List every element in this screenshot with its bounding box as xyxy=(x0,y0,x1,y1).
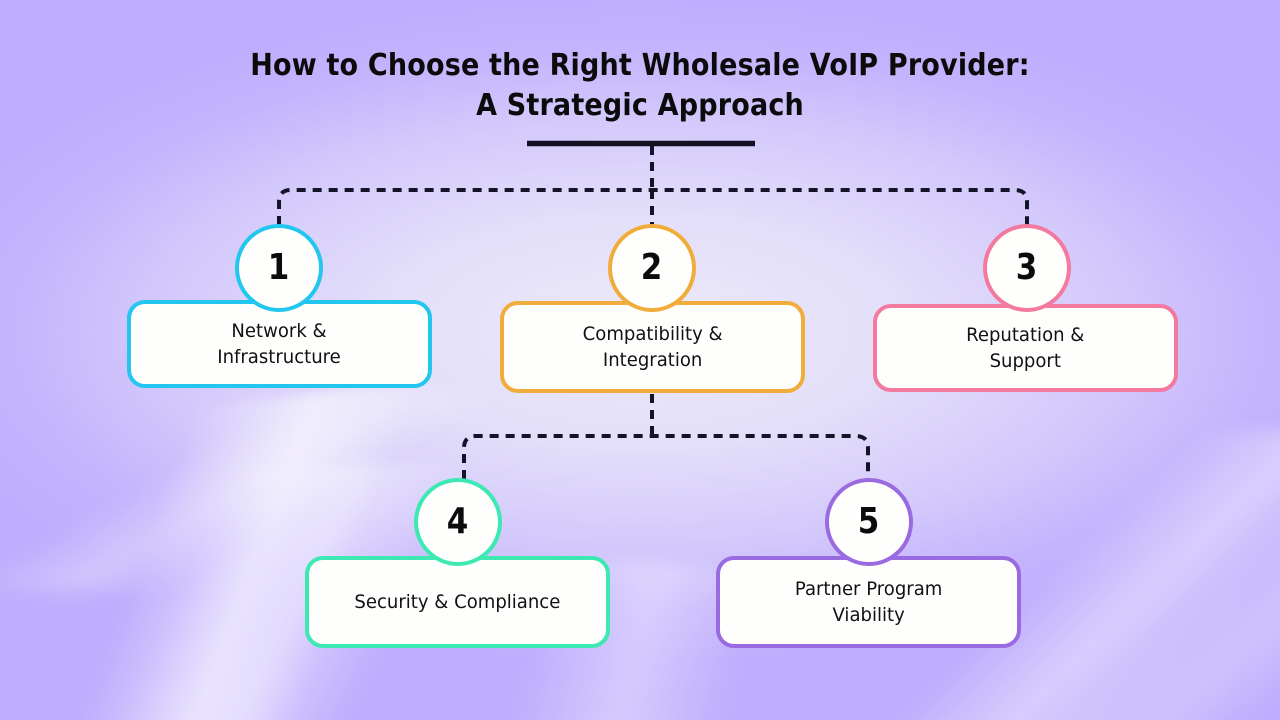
step-badge-2-number: 2 xyxy=(641,250,663,286)
step-badge-2[interactable]: 2 xyxy=(608,224,696,312)
step-card-5-label-line-1: Partner Program xyxy=(795,576,943,602)
step-card-1[interactable]: Network & Infrastructure xyxy=(127,300,432,388)
step-card-2-label-line-1: Compatibility & xyxy=(583,321,723,347)
step-card-5[interactable]: Partner Program Viability xyxy=(716,556,1021,648)
bus-connector-tier2 xyxy=(464,436,868,479)
step-badge-5-number: 5 xyxy=(858,504,880,540)
step-card-2-label-line-2: Integration xyxy=(583,347,723,373)
step-card-5-label-line-2: Viability xyxy=(795,602,943,628)
step-card-4-label-line-1: Security & Compliance xyxy=(355,589,561,615)
step-badge-3[interactable]: 3 xyxy=(983,224,1071,312)
step-badge-1-number: 1 xyxy=(268,250,290,286)
step-badge-4-number: 4 xyxy=(447,504,469,540)
step-card-4[interactable]: Security & Compliance xyxy=(305,556,610,648)
infographic-canvas: How to Choose the Right Wholesale VoIP P… xyxy=(0,0,1280,720)
step-card-1-label-line-1: Network & xyxy=(218,318,342,344)
step-badge-4[interactable]: 4 xyxy=(414,478,502,566)
step-card-3[interactable]: Reputation & Support xyxy=(873,304,1178,392)
step-badge-3-number: 3 xyxy=(1016,250,1038,286)
step-card-3-label-line-1: Reputation & xyxy=(966,322,1084,348)
step-card-2[interactable]: Compatibility & Integration xyxy=(500,301,805,393)
step-badge-1[interactable]: 1 xyxy=(235,224,323,312)
step-badge-5[interactable]: 5 xyxy=(825,478,913,566)
step-card-1-label-line-2: Infrastructure xyxy=(218,344,342,370)
step-card-3-label-line-2: Support xyxy=(966,348,1084,374)
